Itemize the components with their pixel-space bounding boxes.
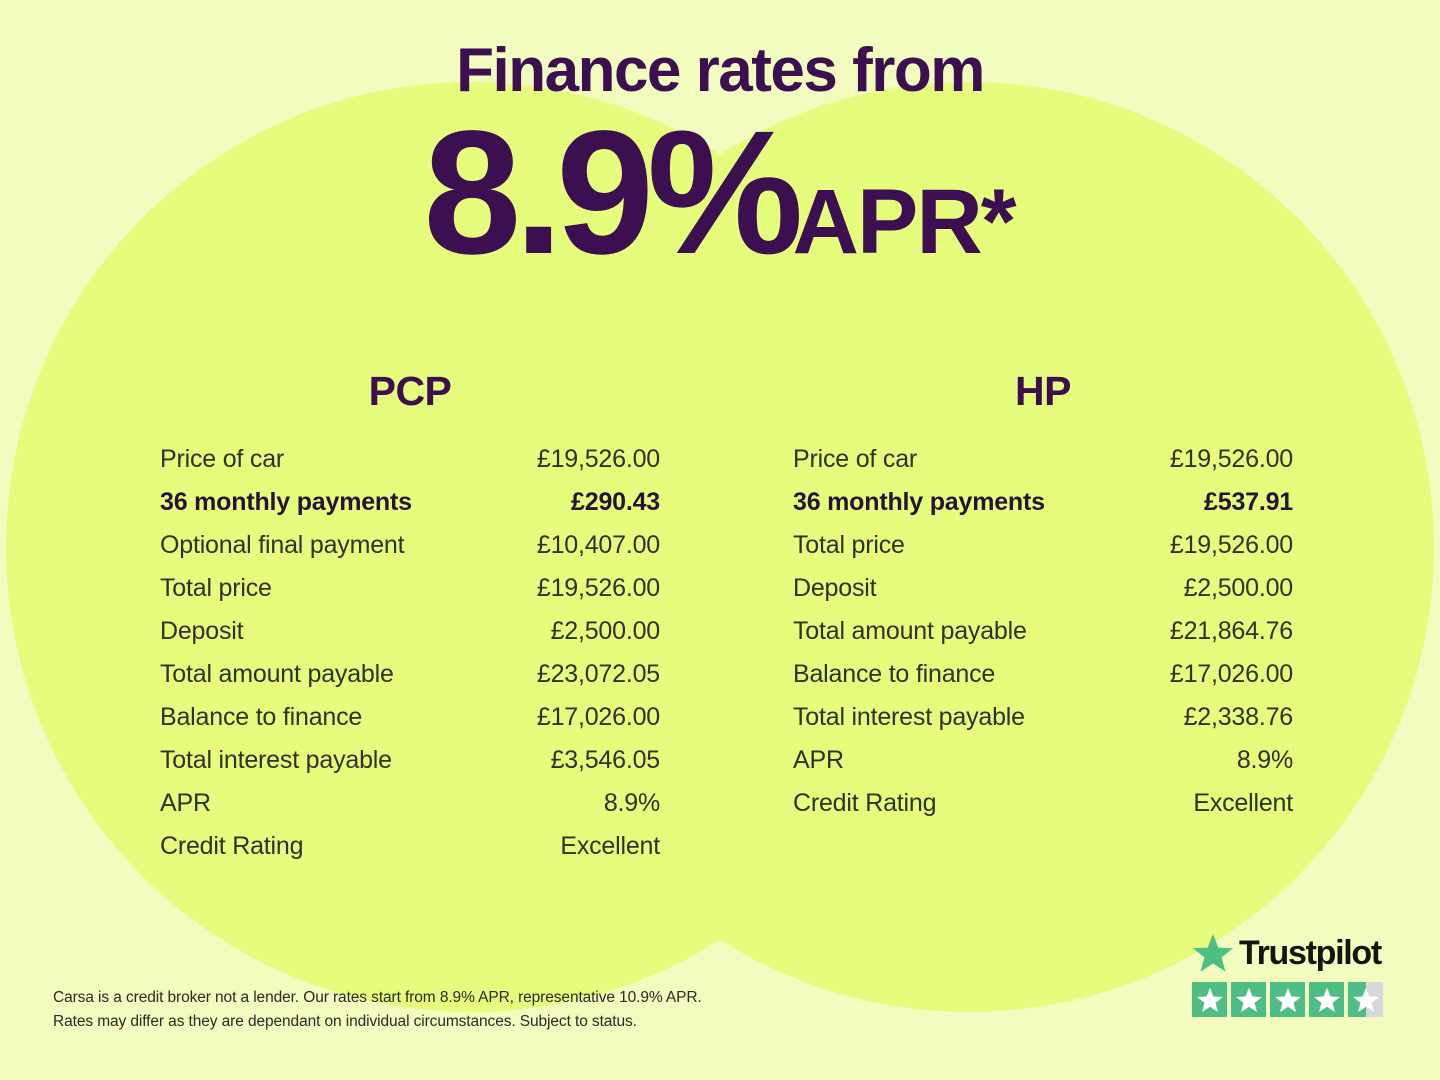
row-label: Balance to finance [793, 660, 995, 689]
table-row: APR8.9% [793, 746, 1293, 789]
row-label: Total price [793, 531, 905, 560]
trustpilot-star-full [1192, 982, 1227, 1017]
row-value: £19,526.00 [537, 445, 660, 474]
table-row: Total interest payable£2,338.76 [793, 703, 1293, 746]
finance-table-pcp: Price of car£19,526.0036 monthly payment… [160, 445, 660, 875]
row-value: £2,500.00 [551, 617, 660, 646]
row-value: £290.43 [571, 488, 660, 517]
table-row: Deposit£2,500.00 [160, 617, 660, 660]
headline-rate: 8.9%APR* [0, 103, 1440, 281]
row-value: £17,026.00 [1170, 660, 1293, 689]
star-glyph-icon [1313, 987, 1340, 1013]
row-label: 36 monthly payments [160, 488, 412, 517]
row-value: £19,526.00 [1170, 445, 1293, 474]
row-value: £19,526.00 [1170, 531, 1293, 560]
disclaimer-line-1: Carsa is a credit broker not a lender. O… [53, 986, 813, 1010]
table-row: Credit RatingExcellent [160, 832, 660, 875]
table-row: Price of car£19,526.00 [160, 445, 660, 488]
trustpilot-star-full [1270, 982, 1305, 1017]
table-row: Total amount payable£23,072.05 [160, 660, 660, 703]
row-label: Credit Rating [793, 789, 936, 818]
row-value: £23,072.05 [537, 660, 660, 689]
row-value: £3,546.05 [551, 746, 660, 775]
trustpilot-star-full [1309, 982, 1344, 1017]
row-label: Price of car [793, 445, 917, 474]
table-row: Total price£19,526.00 [160, 574, 660, 617]
table-row: Optional final payment£10,407.00 [160, 531, 660, 574]
table-row: 36 monthly payments£290.43 [160, 488, 660, 531]
rate-unit: APR [793, 171, 981, 273]
trustpilot-star-full [1231, 982, 1266, 1017]
row-label: APR [793, 746, 844, 775]
disclaimer: Carsa is a credit broker not a lender. O… [53, 986, 813, 1033]
header: Finance rates from 8.9%APR* [0, 0, 1440, 281]
row-label: Total interest payable [160, 746, 392, 775]
row-label: Deposit [793, 574, 876, 603]
row-label: Total amount payable [160, 660, 394, 689]
disclaimer-line-2: Rates may differ as they are dependant o… [53, 1010, 813, 1034]
trustpilot-star-icon [1192, 933, 1234, 973]
star-glyph-icon [1274, 987, 1301, 1013]
row-value: £21,864.76 [1170, 617, 1293, 646]
row-value: Excellent [560, 832, 660, 861]
column-heading-hp: HP [793, 368, 1293, 415]
row-label: Total price [160, 574, 272, 603]
row-value: Excellent [1193, 789, 1293, 818]
row-value: £2,500.00 [1184, 574, 1293, 603]
row-value: 8.9% [604, 789, 660, 818]
trustpilot-rating-stars [1192, 982, 1392, 1017]
row-value: £2,338.76 [1184, 703, 1293, 732]
rate-asterisk: * [981, 171, 1017, 273]
table-row: APR8.9% [160, 789, 660, 832]
row-label: Balance to finance [160, 703, 362, 732]
page-title: Finance rates from [0, 0, 1440, 103]
trustpilot-star-half [1348, 982, 1383, 1017]
trustpilot-name: Trustpilot [1239, 934, 1381, 973]
row-label: Optional final payment [160, 531, 404, 560]
table-row: Deposit£2,500.00 [793, 574, 1293, 617]
rate-value: 8.9% [423, 95, 796, 291]
row-value: 8.9% [1237, 746, 1293, 775]
star-glyph-icon [1352, 987, 1379, 1013]
row-value: £19,526.00 [537, 574, 660, 603]
finance-table-hp: Price of car£19,526.0036 monthly payment… [793, 445, 1293, 832]
row-label: Total interest payable [793, 703, 1025, 732]
row-label: Credit Rating [160, 832, 303, 861]
row-value: £17,026.00 [537, 703, 660, 732]
table-row: Total price£19,526.00 [793, 531, 1293, 574]
row-label: Deposit [160, 617, 243, 646]
star-glyph-icon [1235, 987, 1262, 1013]
row-label: APR [160, 789, 211, 818]
row-value: £10,407.00 [537, 531, 660, 560]
table-row: Total amount payable£21,864.76 [793, 617, 1293, 660]
table-row: Balance to finance£17,026.00 [160, 703, 660, 746]
table-row: 36 monthly payments£537.91 [793, 488, 1293, 531]
trustpilot-badge[interactable]: Trustpilot [1192, 930, 1392, 1017]
column-heading-pcp: PCP [160, 368, 660, 415]
finance-rates-graphic: Finance rates from 8.9%APR* PCP Price of… [0, 0, 1440, 1080]
row-value: £537.91 [1204, 488, 1293, 517]
finance-column-hp: HP Price of car£19,526.0036 monthly paym… [793, 368, 1293, 832]
table-row: Price of car£19,526.00 [793, 445, 1293, 488]
row-label: Total amount payable [793, 617, 1027, 646]
table-row: Credit RatingExcellent [793, 789, 1293, 832]
finance-column-pcp: PCP Price of car£19,526.0036 monthly pay… [160, 368, 660, 875]
table-row: Balance to finance£17,026.00 [793, 660, 1293, 703]
trustpilot-wordmark: Trustpilot [1192, 930, 1392, 976]
row-label: Price of car [160, 445, 284, 474]
table-row: Total interest payable£3,546.05 [160, 746, 660, 789]
row-label: 36 monthly payments [793, 488, 1045, 517]
star-glyph-icon [1196, 987, 1223, 1013]
